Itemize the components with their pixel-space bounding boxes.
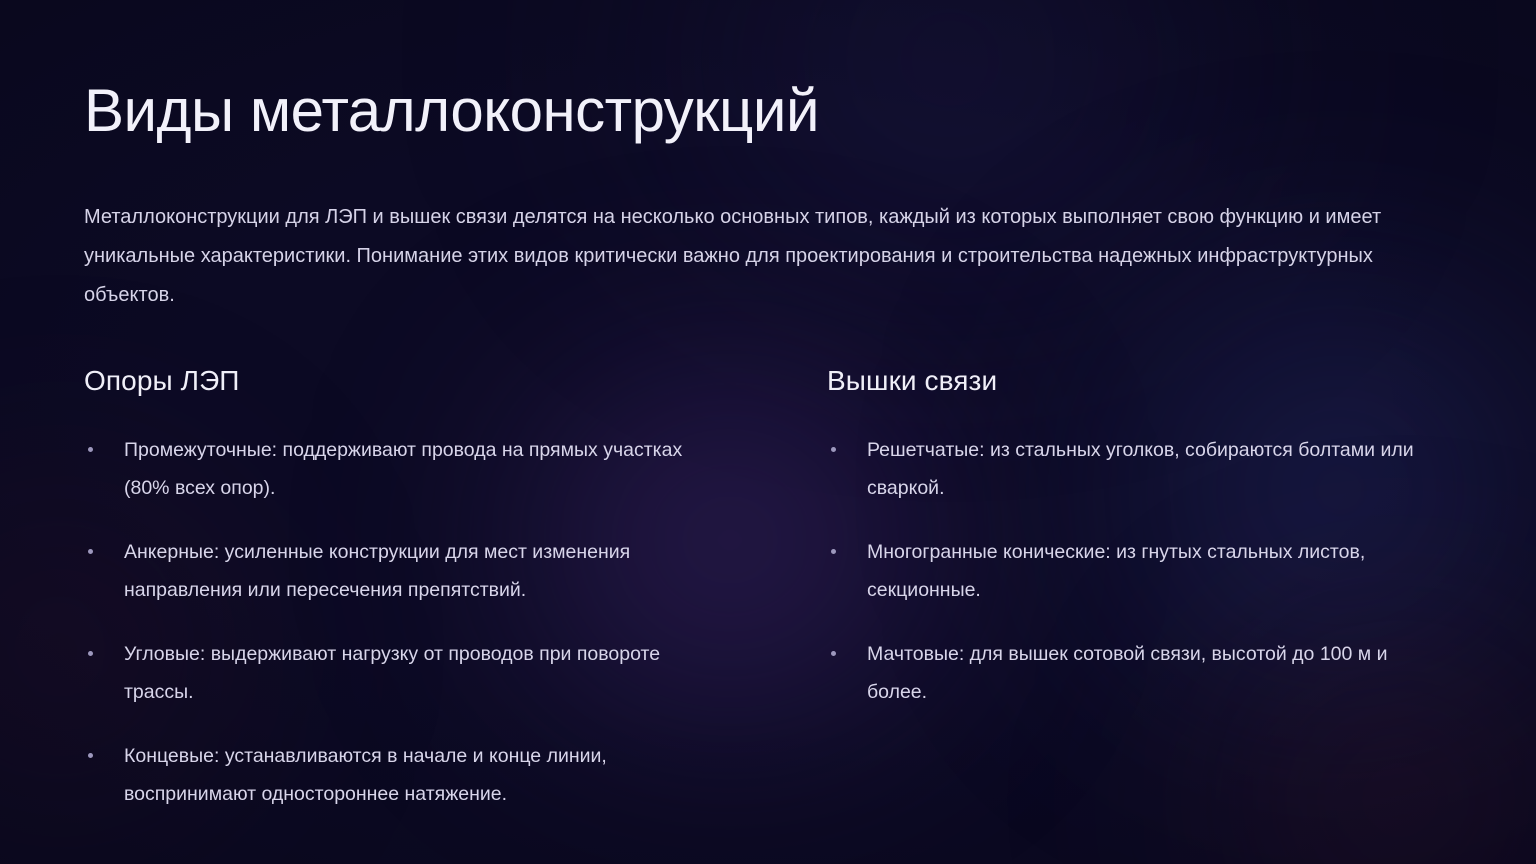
- list-item: Анкерные: усиленные конструкции для мест…: [84, 533, 684, 609]
- bullet-dot-icon: [831, 549, 836, 554]
- bullet-dot-icon: [88, 753, 93, 758]
- bullet-dot-icon: [831, 651, 836, 656]
- list-item-text: Решетчатые: из стальных уголков, собираю…: [867, 439, 1414, 499]
- list-item: Мачтовые: для вышек сотовой связи, высот…: [827, 635, 1427, 711]
- bullet-dot-icon: [88, 549, 93, 554]
- column-heading-right: Вышки связи: [827, 365, 1456, 397]
- column-power-line-supports: Опоры ЛЭП Промежуточные: поддерживают пр…: [84, 365, 713, 813]
- list-item: Решетчатые: из стальных уголков, собираю…: [827, 431, 1427, 507]
- list-item: Угловые: выдерживают нагрузку от проводо…: [84, 635, 684, 711]
- list-item-text: Угловые: выдерживают нагрузку от проводо…: [124, 643, 660, 703]
- columns-container: Опоры ЛЭП Промежуточные: поддерживают пр…: [84, 365, 1456, 813]
- intro-paragraph: Металлоконструкции для ЛЭП и вышек связи…: [84, 198, 1414, 315]
- bullet-list-right: Решетчатые: из стальных уголков, собираю…: [827, 431, 1456, 711]
- slide-content: Виды металлоконструкций Металлоконструкц…: [0, 0, 1536, 864]
- list-item: Промежуточные: поддерживают провода на п…: [84, 431, 684, 507]
- column-communication-towers: Вышки связи Решетчатые: из стальных угол…: [793, 365, 1456, 813]
- column-heading-left: Опоры ЛЭП: [84, 365, 713, 397]
- list-item: Концевые: устанавливаются в начале и кон…: [84, 737, 684, 813]
- page-title: Виды металлоконструкций: [84, 78, 1456, 144]
- list-item-text: Мачтовые: для вышек сотовой связи, высот…: [867, 643, 1388, 703]
- bullet-list-left: Промежуточные: поддерживают провода на п…: [84, 431, 713, 813]
- bullet-dot-icon: [88, 651, 93, 656]
- list-item: Многогранные конические: из гнутых сталь…: [827, 533, 1427, 609]
- list-item-text: Концевые: устанавливаются в начале и кон…: [124, 745, 607, 805]
- bullet-dot-icon: [88, 447, 93, 452]
- list-item-text: Многогранные конические: из гнутых сталь…: [867, 541, 1365, 601]
- bullet-dot-icon: [831, 447, 836, 452]
- list-item-text: Промежуточные: поддерживают провода на п…: [124, 439, 682, 499]
- list-item-text: Анкерные: усиленные конструкции для мест…: [124, 541, 630, 601]
